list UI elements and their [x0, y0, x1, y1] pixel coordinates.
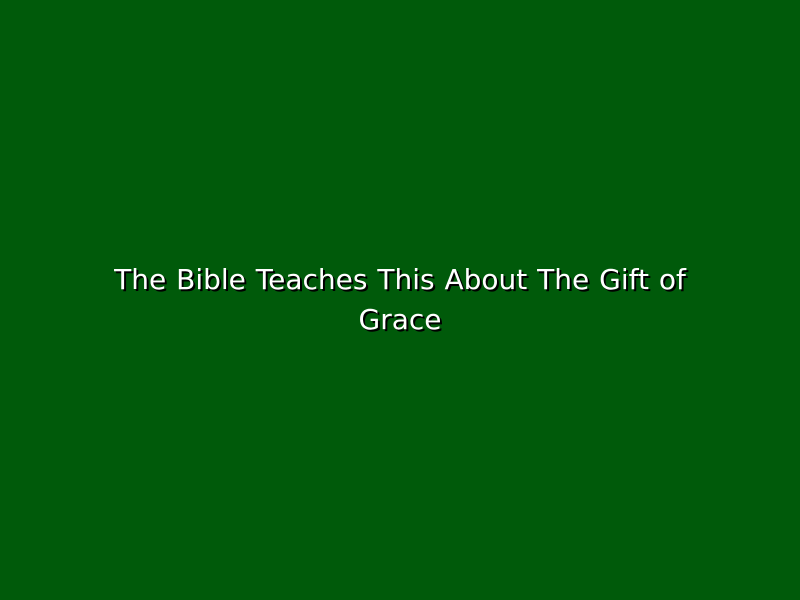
page-title: The Bible Teaches This About The Gift of… — [90, 260, 710, 340]
title-card: The Bible Teaches This About The Gift of… — [0, 0, 800, 600]
title-block: The Bible Teaches This About The Gift of… — [80, 260, 720, 340]
